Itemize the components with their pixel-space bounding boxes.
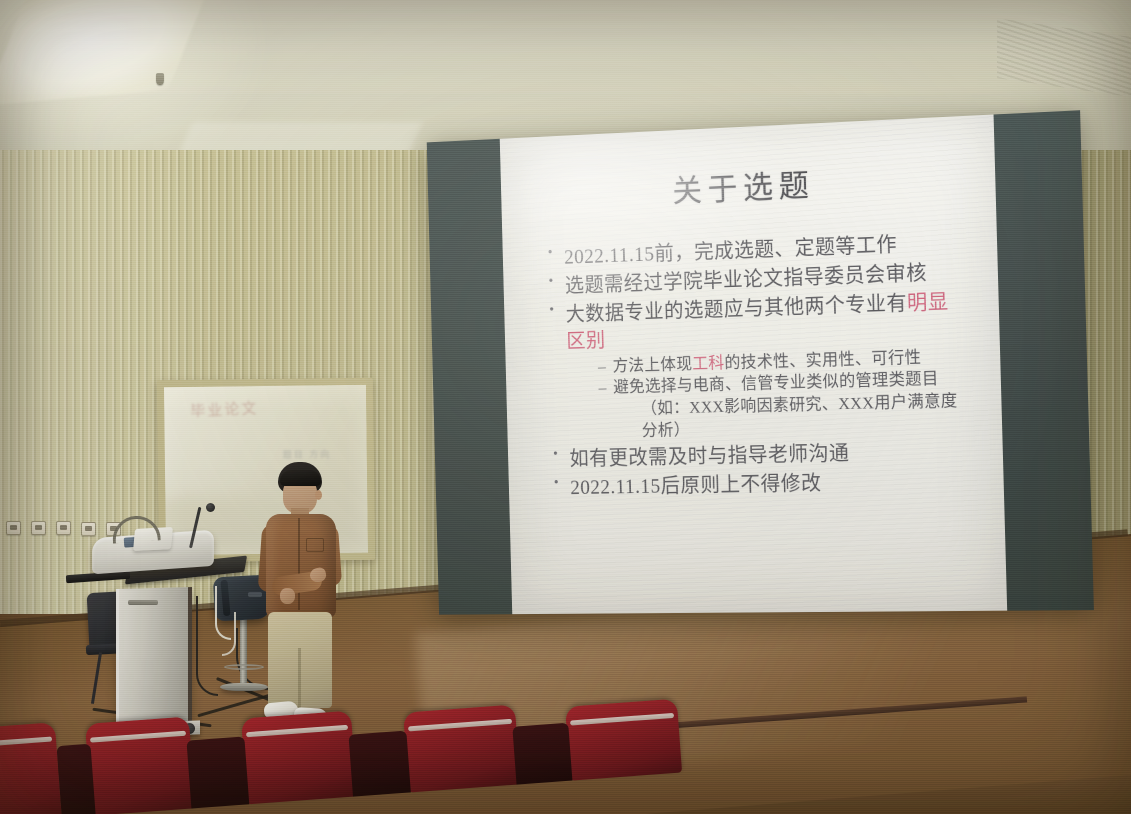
letterbox-bar-left xyxy=(427,139,513,615)
slide-sub-list: 方法上体现工科的技术性、实用性、可行性 避免选择与电商、信管专业类似的管理类题目… xyxy=(567,345,967,444)
wall-socket xyxy=(56,521,71,535)
slide-sub-1-part-3: 的技术性、实用性、可行性 xyxy=(724,348,921,372)
presenter-ear xyxy=(315,490,322,500)
whiteboard-writing-mid: 题目 方向 xyxy=(283,447,332,461)
slide-surface: 关于选题 2022.11.15前，完成选题、定题等工作 选题需经过学院毕业论文指… xyxy=(500,115,1007,615)
wall-socket xyxy=(31,521,46,535)
presenter-shirt-pocket xyxy=(306,538,324,552)
lectern-handle xyxy=(128,600,158,605)
ceiling-vent xyxy=(997,18,1131,98)
sprinkler-head-icon xyxy=(156,73,164,85)
auditorium-seat[interactable] xyxy=(0,722,62,814)
slide-sub-1-part-1: 方法上体现 xyxy=(612,354,692,375)
auditorium-seat[interactable] xyxy=(241,711,357,805)
slide-bullet-3: 大数据专业的选题应与其他两个专业有明显区别 方法上体现工科的技术性、实用性、可行… xyxy=(547,288,967,444)
lecture-hall-photo: 毕业论文 题目 方向 关于选题 2022.11.15前，完成选题、定题等工作 选… xyxy=(0,0,1131,814)
auditorium-seat[interactable] xyxy=(403,705,521,793)
letterbox-bar-right xyxy=(994,110,1094,610)
presenter-shirt-placket xyxy=(298,518,300,610)
slide-content: 关于选题 2022.11.15前，完成选题、定题等工作 选题需经过学院毕业论文指… xyxy=(500,115,1007,615)
auditorium-seat-shadow xyxy=(186,736,249,808)
screen-frame: 关于选题 2022.11.15前，完成选题、定题等工作 选题需经过学院毕业论文指… xyxy=(427,110,1094,614)
microphone-head-icon xyxy=(206,503,215,512)
presenter-hair-front xyxy=(280,470,321,486)
presenter-hand xyxy=(280,588,295,604)
auditorium-seat-shadow xyxy=(348,731,410,797)
auditorium-seat[interactable] xyxy=(565,699,682,781)
slide-title: 关于选题 xyxy=(528,154,967,218)
slide-bullet-list: 2022.11.15前，完成选题、定题等工作 选题需经过学院毕业论文指导委员会审… xyxy=(530,229,975,504)
wall-socket xyxy=(6,521,21,535)
slide-bullet-5: 2022.11.15后原则上不得修改 xyxy=(552,467,969,502)
auditorium-seat-shadow xyxy=(57,744,96,814)
auditorium-seat[interactable] xyxy=(85,716,195,814)
whiteboard-writing-top: 毕业论文 xyxy=(190,397,259,421)
slide-sub-1-highlight: 工科 xyxy=(692,353,725,372)
projection-screen: 关于选题 2022.11.15前，完成选题、定题等工作 选题需经过学院毕业论文指… xyxy=(427,110,1094,614)
presenter-shirt xyxy=(266,514,336,618)
auditorium-seat-shadow xyxy=(512,723,572,785)
wall-socket xyxy=(81,522,96,536)
